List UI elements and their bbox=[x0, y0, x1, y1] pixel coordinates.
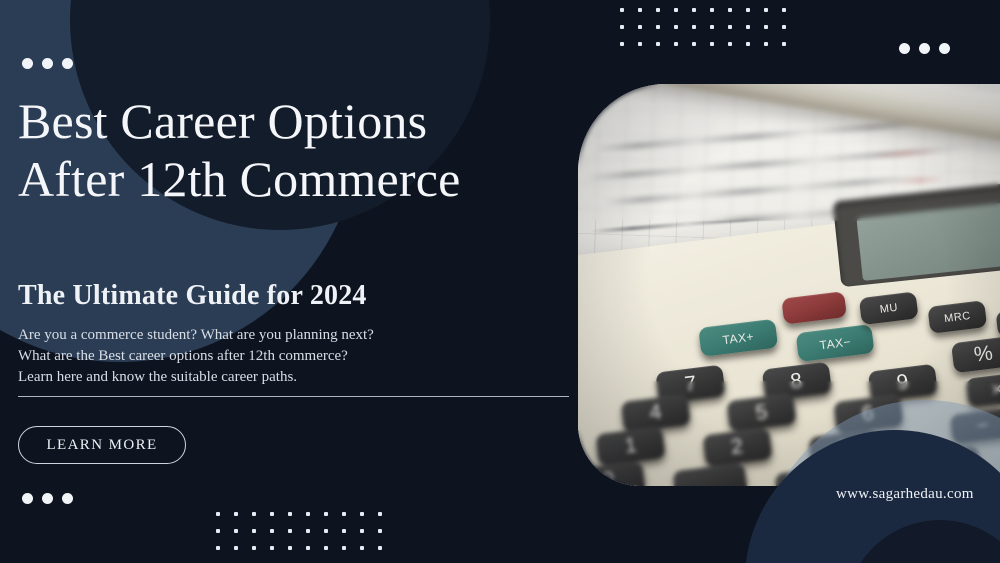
content-column: Best Career Options After 12th Commerce … bbox=[18, 0, 578, 563]
calculator-key-m-minus: M− bbox=[995, 305, 1000, 338]
calculator-key-0: 0 bbox=[578, 460, 646, 486]
calculator-key-5: 5 bbox=[726, 393, 796, 433]
dot-cluster-top-right bbox=[899, 43, 950, 54]
calculator-key-mrc: MRC bbox=[927, 300, 987, 334]
learn-more-button[interactable]: LEARN MORE bbox=[18, 426, 186, 464]
website-url: www.sagarhedau.com bbox=[836, 486, 974, 503]
calculator-key-2: 2 bbox=[702, 428, 772, 468]
page-title: Best Career Options After 12th Commerce bbox=[18, 92, 558, 208]
description-line: Learn here and know the suitable career … bbox=[18, 367, 498, 388]
calculator-key-mu: MU bbox=[859, 291, 919, 325]
description: Are you a commerce student? What are you… bbox=[18, 325, 498, 388]
calculator-key-tax-minus: TAX− bbox=[795, 324, 875, 362]
calculator-key-power bbox=[781, 291, 846, 325]
page-title-line-2: After 12th Commerce bbox=[18, 151, 461, 207]
divider bbox=[18, 396, 569, 397]
description-line: What are the Best career options after 1… bbox=[18, 346, 498, 367]
subtitle: The Ultimate Guide for 2024 bbox=[18, 280, 367, 312]
calculator-key-1: 1 bbox=[596, 426, 666, 466]
promo-banner: TAX+ TAX− MU MRC M− 7 8 9 % 4 5 6 × 1 2 bbox=[0, 0, 1000, 563]
calculator-key-decimal: . bbox=[672, 462, 747, 486]
calculator-key-multiply: × bbox=[965, 371, 1000, 408]
lcd-screen bbox=[856, 195, 1000, 281]
calculator-key-tax-plus: TAX+ bbox=[698, 319, 778, 357]
dot-grid-top-right bbox=[620, 8, 800, 59]
page-title-line-1: Best Career Options bbox=[18, 93, 427, 149]
description-line: Are you a commerce student? What are you… bbox=[18, 325, 498, 346]
calculator-key-percent: % bbox=[951, 336, 1000, 373]
